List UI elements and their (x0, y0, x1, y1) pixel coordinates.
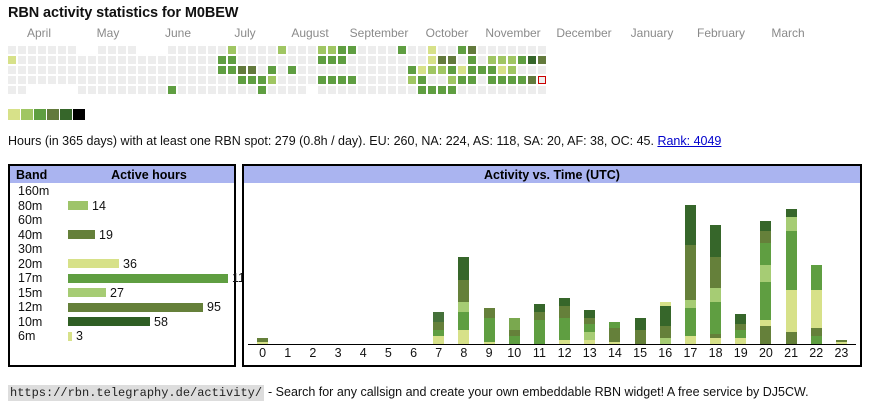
heatmap-cell[interactable] (88, 76, 96, 84)
heatmap-cell[interactable] (208, 46, 216, 54)
heatmap-cell[interactable] (78, 56, 86, 64)
heatmap-cell[interactable] (318, 76, 326, 84)
heatmap-cell[interactable] (508, 76, 516, 84)
heatmap-cell[interactable] (258, 66, 266, 74)
rank-link[interactable]: Rank: 4049 (657, 134, 721, 148)
heatmap-cell[interactable] (348, 76, 356, 84)
heatmap-cell[interactable] (478, 66, 486, 74)
heatmap-cell[interactable] (178, 76, 186, 84)
heatmap-cell[interactable] (498, 56, 506, 64)
heatmap-cell[interactable] (78, 76, 86, 84)
heatmap-cell[interactable] (298, 56, 306, 64)
heatmap-cell[interactable] (338, 76, 346, 84)
heatmap-cell[interactable] (258, 76, 266, 84)
heatmap-cell[interactable] (458, 46, 466, 54)
heatmap-cell[interactable] (448, 86, 456, 94)
heatmap-cell[interactable] (468, 66, 476, 74)
heatmap-cell[interactable] (168, 56, 176, 64)
heatmap-cell[interactable] (378, 86, 386, 94)
heatmap-cell[interactable] (488, 86, 496, 94)
heatmap-cell[interactable] (498, 76, 506, 84)
heatmap-cell[interactable] (298, 86, 306, 94)
heatmap-cell[interactable] (288, 46, 296, 54)
heatmap-cell[interactable] (208, 56, 216, 64)
heatmap-cell[interactable] (528, 46, 536, 54)
heatmap-cell[interactable] (88, 56, 96, 64)
heatmap-cell[interactable] (98, 86, 106, 94)
heatmap-cell[interactable] (428, 56, 436, 64)
heatmap-cell[interactable] (188, 76, 196, 84)
heatmap-cell[interactable] (168, 46, 176, 54)
heatmap-cell[interactable] (438, 76, 446, 84)
heatmap-cell[interactable] (318, 56, 326, 64)
heatmap-cell[interactable] (228, 86, 236, 94)
heatmap-cell[interactable] (388, 76, 396, 84)
heatmap-cell[interactable] (378, 76, 386, 84)
heatmap-cell[interactable] (318, 46, 326, 54)
chart-bar-hour-12[interactable] (559, 298, 570, 344)
band-bar-wrapper: 27 (68, 286, 234, 300)
heatmap-cell[interactable] (108, 86, 116, 94)
heatmap-cell[interactable] (528, 56, 536, 64)
heatmap-cell[interactable] (38, 46, 46, 54)
heatmap-cell[interactable] (458, 76, 466, 84)
heatmap-cell[interactable] (218, 56, 226, 64)
heatmap-cell[interactable] (488, 66, 496, 74)
heatmap-cell[interactable] (8, 86, 16, 94)
chart-bar-hour-15[interactable] (635, 318, 646, 344)
heatmap-cell[interactable] (18, 56, 26, 64)
heatmap-cell[interactable] (78, 86, 86, 94)
heatmap-cell[interactable] (408, 56, 416, 64)
heatmap-cell[interactable] (478, 46, 486, 54)
heatmap-cell[interactable] (178, 86, 186, 94)
heatmap-cell[interactable] (278, 56, 286, 64)
heatmap-cell[interactable] (418, 46, 426, 54)
chart-plot-area (250, 185, 854, 344)
heatmap-cell[interactable] (518, 86, 526, 94)
chart-bar-hour-9[interactable] (484, 308, 495, 344)
heatmap-cell[interactable] (488, 46, 496, 54)
heatmap-cell[interactable] (158, 76, 166, 84)
heatmap-cell[interactable] (278, 86, 286, 94)
heatmap-cell[interactable] (188, 46, 196, 54)
heatmap-cell[interactable] (238, 76, 246, 84)
heatmap-cell[interactable] (58, 76, 66, 84)
heatmap-cell[interactable] (538, 56, 546, 64)
heatmap-cell[interactable] (18, 66, 26, 74)
heatmap-cell[interactable] (488, 76, 496, 84)
heatmap-cell[interactable] (108, 66, 116, 74)
heatmap-cell[interactable] (18, 76, 26, 84)
heatmap-cell[interactable] (438, 66, 446, 74)
heatmap-cell[interactable] (208, 86, 216, 94)
band-name: 15m (18, 286, 68, 300)
chart-bar-segment (660, 306, 671, 326)
heatmap-cell[interactable] (358, 66, 366, 74)
chart-bar-hour-18[interactable] (710, 225, 721, 344)
chart-bar-hour-21[interactable] (786, 209, 797, 344)
chart-bar-hour-8[interactable] (458, 257, 469, 344)
heatmap-cell[interactable] (388, 86, 396, 94)
heatmap-cell[interactable] (248, 66, 256, 74)
heatmap-cell[interactable] (58, 66, 66, 74)
chart-bar-hour-19[interactable] (735, 314, 746, 344)
heatmap-cell[interactable] (88, 86, 96, 94)
heatmap-cell[interactable] (18, 46, 26, 54)
heatmap-cell[interactable] (408, 46, 416, 54)
heatmap-cell[interactable] (368, 46, 376, 54)
heatmap-cell[interactable] (438, 46, 446, 54)
heatmap-cell[interactable] (8, 76, 16, 84)
heatmap-cell[interactable] (28, 46, 36, 54)
heatmap-cell[interactable] (48, 56, 56, 64)
chart-bar-hour-17[interactable] (685, 205, 696, 344)
heatmap-cell[interactable] (318, 86, 326, 94)
heatmap-cell[interactable] (218, 86, 226, 94)
heatmap-cell[interactable] (348, 56, 356, 64)
legend-swatch-4 (60, 109, 72, 120)
heatmap-cell[interactable] (48, 46, 56, 54)
heatmap-cell[interactable] (368, 66, 376, 74)
hour-tick-9: 9 (486, 346, 493, 360)
heatmap-cell[interactable] (308, 76, 316, 84)
heatmap-cell[interactable] (268, 56, 276, 64)
heatmap-cell[interactable] (518, 46, 526, 54)
heatmap-cell[interactable] (338, 56, 346, 64)
heatmap-cell[interactable] (208, 76, 216, 84)
heatmap-cell[interactable] (508, 46, 516, 54)
heatmap-cell[interactable] (348, 66, 356, 74)
heatmap-cell[interactable] (118, 66, 126, 74)
heatmap-cell[interactable] (198, 66, 206, 74)
heatmap-cell[interactable] (38, 76, 46, 84)
heatmap-cell[interactable] (448, 66, 456, 74)
chart-bar-hour-20[interactable] (760, 221, 771, 344)
heatmap-cell[interactable] (168, 86, 176, 94)
heatmap-cell[interactable] (68, 56, 76, 64)
heatmap-cell[interactable] (208, 66, 216, 74)
heatmap-cell[interactable] (98, 56, 106, 64)
heatmap-cell[interactable] (28, 76, 36, 84)
chart-bar-hour-16[interactable] (660, 302, 671, 344)
heatmap-cell[interactable] (348, 86, 356, 94)
heatmap-cell[interactable] (498, 86, 506, 94)
heatmap-cell[interactable] (528, 76, 536, 84)
heatmap-cell[interactable] (68, 46, 76, 54)
footer: https://rbn.telegraphy.de/activity/ - Se… (8, 385, 809, 401)
heatmap-cell[interactable] (468, 46, 476, 54)
heatmap-cell[interactable] (108, 76, 116, 84)
heatmap-cell[interactable] (168, 66, 176, 74)
heatmap-cell[interactable] (328, 86, 336, 94)
heatmap-cell[interactable] (468, 76, 476, 84)
heatmap-cell[interactable] (528, 86, 536, 94)
heatmap-cell[interactable] (308, 46, 316, 54)
heatmap-cell[interactable] (8, 46, 16, 54)
heatmap-cell[interactable] (338, 46, 346, 54)
heatmap-cell[interactable] (158, 56, 166, 64)
heatmap-cell[interactable] (288, 76, 296, 84)
heatmap-cell[interactable] (128, 86, 136, 94)
heatmap-cell[interactable] (128, 76, 136, 84)
heatmap-cell[interactable] (168, 76, 176, 84)
heatmap-cell[interactable] (178, 46, 186, 54)
chart-bar-hour-10[interactable] (509, 318, 520, 344)
heatmap-cell[interactable] (538, 76, 546, 84)
heatmap-cell[interactable] (398, 76, 406, 84)
heatmap-cell[interactable] (218, 76, 226, 84)
heatmap-cell[interactable] (328, 56, 336, 64)
heatmap-cell[interactable] (508, 56, 516, 64)
heatmap-cell[interactable] (68, 66, 76, 74)
heatmap-cell[interactable] (358, 86, 366, 94)
heatmap-cell[interactable] (498, 66, 506, 74)
heatmap-cell[interactable] (448, 56, 456, 64)
heatmap-cell[interactable] (158, 66, 166, 74)
heatmap-cell[interactable] (38, 56, 46, 64)
heatmap-cell[interactable] (408, 66, 416, 74)
heatmap-cell[interactable] (78, 66, 86, 74)
heatmap-cell[interactable] (488, 56, 496, 64)
heatmap-cell[interactable] (88, 66, 96, 74)
heatmap-cell[interactable] (238, 86, 246, 94)
heatmap-cell[interactable] (478, 56, 486, 64)
heatmap-cell[interactable] (38, 66, 46, 74)
heatmap-cell[interactable] (308, 66, 316, 74)
heatmap-cell[interactable] (128, 46, 136, 54)
heatmap-cell[interactable] (438, 86, 446, 94)
heatmap-cell[interactable] (518, 66, 526, 74)
heatmap-cell[interactable] (498, 46, 506, 54)
heatmap-cell[interactable] (388, 66, 396, 74)
heatmap-cell[interactable] (308, 56, 316, 64)
heatmap-cell[interactable] (238, 66, 246, 74)
heatmap-cell[interactable] (248, 46, 256, 54)
heatmap-cell[interactable] (478, 86, 486, 94)
heatmap-cell[interactable] (118, 56, 126, 64)
heatmap-cell[interactable] (338, 66, 346, 74)
band-column-header: Band (16, 168, 70, 182)
chart-bar-segment (559, 306, 570, 318)
heatmap-cell[interactable] (468, 56, 476, 64)
chart-bar-hour-7[interactable] (433, 312, 444, 344)
heatmap-cell[interactable] (8, 56, 16, 64)
heatmap-cell[interactable] (48, 76, 56, 84)
heatmap-cell[interactable] (458, 66, 466, 74)
heatmap-cell[interactable] (128, 66, 136, 74)
heatmap-cell[interactable] (178, 56, 186, 64)
heatmap-cell[interactable] (198, 56, 206, 64)
heatmap-cell[interactable] (418, 86, 426, 94)
heatmap-cell[interactable] (228, 46, 236, 54)
heatmap-cell[interactable] (338, 86, 346, 94)
heatmap-cell[interactable] (258, 46, 266, 54)
heatmap-cell[interactable] (458, 56, 466, 64)
heatmap-cell[interactable] (428, 46, 436, 54)
chart-bar-hour-22[interactable] (811, 265, 822, 344)
heatmap-cell[interactable] (28, 66, 36, 74)
heatmap-cell[interactable] (508, 86, 516, 94)
chart-bar-hour-11[interactable] (534, 304, 545, 344)
heatmap-cell[interactable] (408, 86, 416, 94)
month-label-october: October (426, 26, 469, 40)
heatmap-cell[interactable] (278, 76, 286, 84)
heatmap-cell[interactable] (48, 66, 56, 74)
heatmap-cell[interactable] (58, 46, 66, 54)
band-name: 80m (18, 199, 68, 213)
heatmap-cell[interactable] (278, 46, 286, 54)
heatmap-cell[interactable] (118, 86, 126, 94)
heatmap-cell[interactable] (188, 56, 196, 64)
hour-tick-2: 2 (309, 346, 316, 360)
chart-bar-hour-14[interactable] (609, 322, 620, 344)
heatmap-cell[interactable] (248, 56, 256, 64)
heatmap-cell[interactable] (508, 66, 516, 74)
heatmap-cell[interactable] (18, 86, 26, 94)
heatmap-cell[interactable] (148, 86, 156, 94)
heatmap-cell[interactable] (268, 66, 276, 74)
heatmap-cell[interactable] (198, 86, 206, 94)
heatmap-cell[interactable] (368, 56, 376, 64)
chart-bar-segment (786, 332, 797, 344)
heatmap-cell[interactable] (538, 46, 546, 54)
heatmap-cell[interactable] (138, 86, 146, 94)
heatmap-cell[interactable] (288, 56, 296, 64)
heatmap-cell[interactable] (68, 76, 76, 84)
hour-tick-7: 7 (435, 346, 442, 360)
heatmap-cell[interactable] (298, 76, 306, 84)
heatmap-cell[interactable] (158, 86, 166, 94)
heatmap-cell[interactable] (278, 66, 286, 74)
heatmap-cell[interactable] (518, 76, 526, 84)
heatmap-cell[interactable] (228, 76, 236, 84)
heatmap-cell[interactable] (358, 46, 366, 54)
heatmap-cell[interactable] (398, 56, 406, 64)
heatmap-cell[interactable] (118, 46, 126, 54)
heatmap-cell[interactable] (138, 76, 146, 84)
heatmap-cell[interactable] (228, 66, 236, 74)
heatmap-cell[interactable] (128, 56, 136, 64)
heatmap-cell[interactable] (138, 66, 146, 74)
heatmap-cell[interactable] (238, 56, 246, 64)
heatmap-cell[interactable] (518, 56, 526, 64)
heatmap-cell[interactable] (268, 86, 276, 94)
heatmap-cell[interactable] (438, 56, 446, 64)
heatmap-cell[interactable] (348, 46, 356, 54)
heatmap-cell[interactable] (538, 66, 546, 74)
heatmap-cell[interactable] (198, 46, 206, 54)
chart-bar-segment (559, 318, 570, 340)
heatmap-cell[interactable] (398, 46, 406, 54)
heatmap-cell[interactable] (98, 66, 106, 74)
heatmap-cell[interactable] (378, 66, 386, 74)
heatmap-cell[interactable] (448, 46, 456, 54)
heatmap-cell[interactable] (418, 56, 426, 64)
heatmap-cell[interactable] (298, 66, 306, 74)
chart-bar-segment (760, 221, 771, 231)
heatmap-cell[interactable] (148, 76, 156, 84)
heatmap-cell[interactable] (218, 46, 226, 54)
heatmap-cell[interactable] (108, 56, 116, 64)
heatmap-cell[interactable] (388, 56, 396, 64)
heatmap-cell[interactable] (368, 76, 376, 84)
heatmap-cell[interactable] (428, 76, 436, 84)
hour-tick-21: 21 (784, 346, 798, 360)
heatmap-cell[interactable] (298, 46, 306, 54)
chart-bar-segment (534, 304, 545, 312)
heatmap-cell[interactable] (148, 66, 156, 74)
chart-bar-hour-13[interactable] (584, 310, 595, 344)
heatmap-cell[interactable] (258, 56, 266, 64)
heatmap-cell[interactable] (538, 86, 546, 94)
heatmap-cell[interactable] (398, 66, 406, 74)
heatmap-cell[interactable] (248, 76, 256, 84)
heatmap-cell[interactable] (468, 86, 476, 94)
heatmap-cell[interactable] (428, 86, 436, 94)
heatmap-cell[interactable] (448, 76, 456, 84)
heatmap-cell[interactable] (8, 66, 16, 74)
heatmap-cell[interactable] (138, 56, 146, 64)
chart-bar-segment (484, 318, 495, 342)
heatmap-cell[interactable] (238, 46, 246, 54)
heatmap-cell[interactable] (358, 56, 366, 64)
chart-bar-segment (735, 314, 746, 324)
heatmap-cell[interactable] (318, 66, 326, 74)
heatmap-cell[interactable] (248, 86, 256, 94)
heatmap-cell[interactable] (418, 66, 426, 74)
heatmap-cell[interactable] (148, 56, 156, 64)
heatmap-cell[interactable] (198, 76, 206, 84)
heatmap-cell[interactable] (188, 86, 196, 94)
heatmap-cell[interactable] (378, 46, 386, 54)
heatmap-cell[interactable] (408, 76, 416, 84)
heatmap-cell[interactable] (478, 76, 486, 84)
heatmap-cell[interactable] (258, 86, 266, 94)
activity-heatmap[interactable] (0, 44, 870, 98)
heatmap-cell[interactable] (98, 76, 106, 84)
heatmap-cell[interactable] (218, 66, 226, 74)
heatmap-cell[interactable] (328, 66, 336, 74)
heatmap-cell[interactable] (328, 76, 336, 84)
heatmap-cell[interactable] (288, 86, 296, 94)
heatmap-cell[interactable] (228, 56, 236, 64)
table-row: 17m113 (10, 271, 234, 286)
heatmap-cell[interactable] (58, 56, 66, 64)
heatmap-cell[interactable] (388, 46, 396, 54)
heatmap-cell[interactable] (178, 66, 186, 74)
heatmap-cell[interactable] (458, 86, 466, 94)
heatmap-cell[interactable] (118, 76, 126, 84)
heatmap-cell[interactable] (188, 66, 196, 74)
heatmap-cell[interactable] (288, 66, 296, 74)
heatmap-cell[interactable] (268, 46, 276, 54)
heatmap-cell[interactable] (378, 56, 386, 64)
heatmap-cell[interactable] (358, 76, 366, 84)
chart-bar-segment (534, 320, 545, 344)
widget-url[interactable]: https://rbn.telegraphy.de/activity/ (8, 385, 264, 401)
heatmap-cell[interactable] (28, 56, 36, 64)
heatmap-cell[interactable] (398, 86, 406, 94)
heatmap-cell[interactable] (528, 66, 536, 74)
heatmap-cell[interactable] (368, 86, 376, 94)
heatmap-cell[interactable] (268, 76, 276, 84)
heatmap-cell[interactable] (428, 66, 436, 74)
heatmap-cell[interactable] (418, 76, 426, 84)
heatmap-cell[interactable] (328, 46, 336, 54)
heatmap-cell[interactable] (98, 46, 106, 54)
heatmap-cell[interactable] (108, 46, 116, 54)
